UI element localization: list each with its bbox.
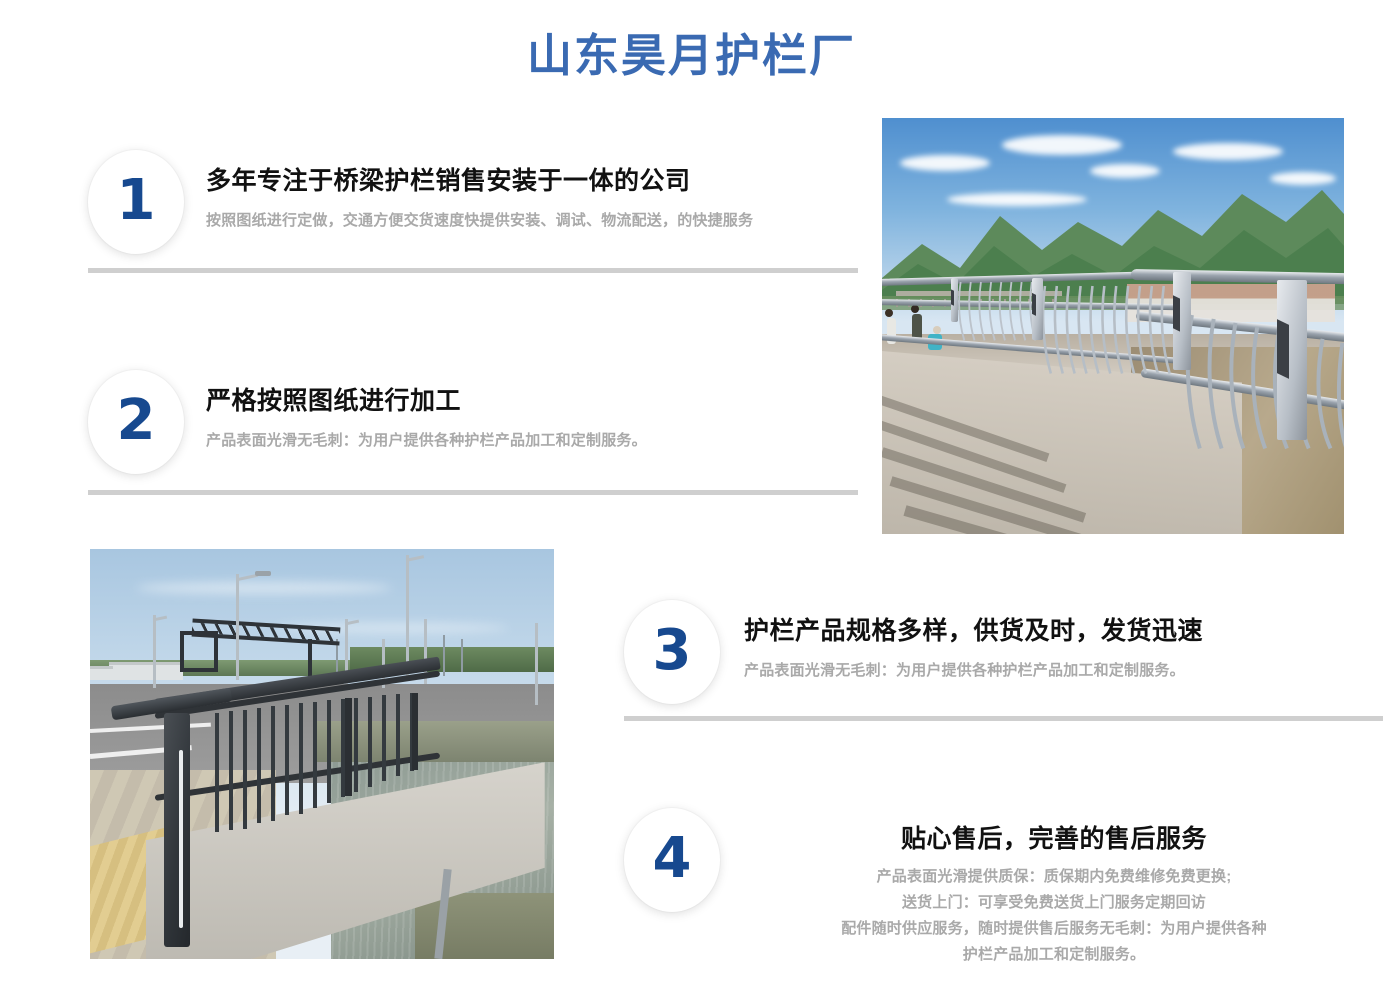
railing-picket bbox=[313, 702, 317, 809]
guardrail-post bbox=[951, 278, 958, 322]
street-lamp-pole bbox=[406, 555, 409, 678]
feature-badge-1: 1 bbox=[88, 150, 184, 254]
feature-text-2: 严格按照图纸进行加工 产品表面光滑无毛刺：为用户提供各种护栏产品加工和定制服务。 bbox=[206, 370, 878, 454]
decorative-balusters bbox=[1182, 309, 1344, 450]
worker-head bbox=[911, 305, 919, 313]
poster-root: 山东昊月护栏厂 1 多年专注于桥梁护栏销售安装于一体的公司 按照图纸进行定做，交… bbox=[0, 0, 1383, 1000]
feature-subtitle-4: 产品表面光滑提供质保：质保期内免费维修免费更换; 送货上门：可享受免费送货上门服… bbox=[744, 864, 1364, 968]
street-lamp-pole bbox=[236, 574, 239, 681]
railing-picket bbox=[299, 703, 303, 814]
feature-subtitle-3: 产品表面光滑无毛刺：为用户提供各种护栏产品加工和定制服务。 bbox=[744, 658, 1364, 684]
feature-number-3: 3 bbox=[653, 623, 692, 679]
feature-text-4: 贴心售后，完善的售后服务 产品表面光滑提供质保：质保期内免费维修免费更换; 送货… bbox=[744, 808, 1364, 968]
feature-badge-2: 2 bbox=[88, 370, 184, 474]
power-pylon bbox=[443, 635, 445, 676]
railing-end-post bbox=[164, 713, 190, 947]
power-pylon bbox=[461, 639, 463, 672]
feature-heading-3: 护栏产品规格多样，供货及时，发货迅速 bbox=[744, 614, 1364, 648]
railing-post bbox=[412, 693, 418, 771]
dark-bridge-railing-canal-photo bbox=[90, 549, 554, 959]
gantry-leg bbox=[308, 639, 312, 676]
feature-number-2: 2 bbox=[117, 393, 156, 449]
guardrail-post bbox=[1032, 278, 1043, 340]
railing-picket bbox=[341, 699, 345, 797]
road-gantry-frame bbox=[180, 631, 217, 672]
feature-badge-3: 3 bbox=[624, 600, 720, 704]
feature-heading-2: 严格按照图纸进行加工 bbox=[206, 384, 878, 418]
railing-picket bbox=[327, 700, 331, 803]
distant-building bbox=[90, 666, 113, 680]
railing-picket bbox=[285, 705, 289, 816]
street-lamp-pole bbox=[535, 623, 538, 705]
divider-2 bbox=[88, 490, 858, 495]
feature-subtitle-4-line-4: 护栏产品加工和定制服务。 bbox=[744, 942, 1364, 968]
railing-picket bbox=[396, 694, 400, 776]
feature-subtitle-4-line-3: 配件随时供应服务，随时提供售后服务无毛刺：为用户提供各种 bbox=[744, 916, 1364, 942]
distant-building bbox=[109, 662, 183, 680]
decorative-balusters bbox=[956, 280, 1039, 342]
feature-badge-4: 4 bbox=[624, 808, 720, 912]
feature-item-1: 1 多年专注于桥梁护栏销售安装于一体的公司 按照图纸进行定做，交通方便交货速度快… bbox=[88, 150, 878, 254]
street-lamp-head bbox=[255, 571, 271, 576]
railing-picket bbox=[382, 695, 386, 781]
guardrail-post bbox=[1173, 272, 1191, 370]
railing-picket bbox=[229, 711, 233, 830]
divider-3 bbox=[624, 716, 1383, 721]
decorative-balusters bbox=[1039, 284, 1178, 376]
railing-picket bbox=[215, 713, 219, 832]
railing-picket bbox=[257, 708, 261, 823]
divider-1 bbox=[88, 268, 858, 273]
feature-item-2: 2 严格按照图纸进行加工 产品表面光滑无毛刺：为用户提供各种护栏产品加工和定制服… bbox=[88, 370, 878, 474]
page-title: 山东昊月护栏厂 bbox=[0, 28, 1383, 84]
bridge-steel-guardrail-photo bbox=[882, 118, 1344, 534]
feature-heading-1: 多年专注于桥梁护栏销售安装于一体的公司 bbox=[206, 164, 878, 198]
feature-number-1: 1 bbox=[117, 173, 156, 229]
cloud-icon bbox=[136, 582, 391, 594]
feature-subtitle-2: 产品表面光滑无毛刺：为用户提供各种护栏产品加工和定制服务。 bbox=[206, 428, 878, 454]
feature-text-1: 多年专注于桥梁护栏销售安装于一体的公司 按照图纸进行定做，交通方便交货速度快提供… bbox=[206, 150, 878, 234]
railing-picket bbox=[368, 697, 372, 787]
feature-item-3: 3 护栏产品规格多样，供货及时，发货迅速 产品表面光滑无毛刺：为用户提供各种护栏… bbox=[624, 600, 1364, 704]
railing-picket bbox=[271, 706, 275, 821]
feature-number-4: 4 bbox=[653, 831, 692, 887]
railing-picket bbox=[354, 698, 358, 792]
feature-text-3: 护栏产品规格多样，供货及时，发货迅速 产品表面光滑无毛刺：为用户提供各种护栏产品… bbox=[744, 600, 1364, 684]
feature-heading-4: 贴心售后，完善的售后服务 bbox=[744, 822, 1364, 856]
railing-post bbox=[345, 698, 352, 796]
street-lamp-pole bbox=[153, 615, 156, 689]
railing-picket bbox=[243, 710, 247, 829]
feature-subtitle-4-line-1: 产品表面光滑提供质保：质保期内免费维修免费更换; bbox=[744, 864, 1364, 890]
feature-item-4: 4 贴心售后，完善的售后服务 产品表面光滑提供质保：质保期内免费维修免费更换; … bbox=[624, 808, 1364, 968]
feature-subtitle-4-line-2: 送货上门：可享受免费送货上门服务定期回访 bbox=[744, 890, 1364, 916]
guardrail-post bbox=[1277, 280, 1307, 440]
feature-subtitle-1: 按照图纸进行定做，交通方便交货速度快提供安装、调试、物流配送，的快捷服务 bbox=[206, 208, 878, 234]
worker-head bbox=[933, 326, 941, 334]
